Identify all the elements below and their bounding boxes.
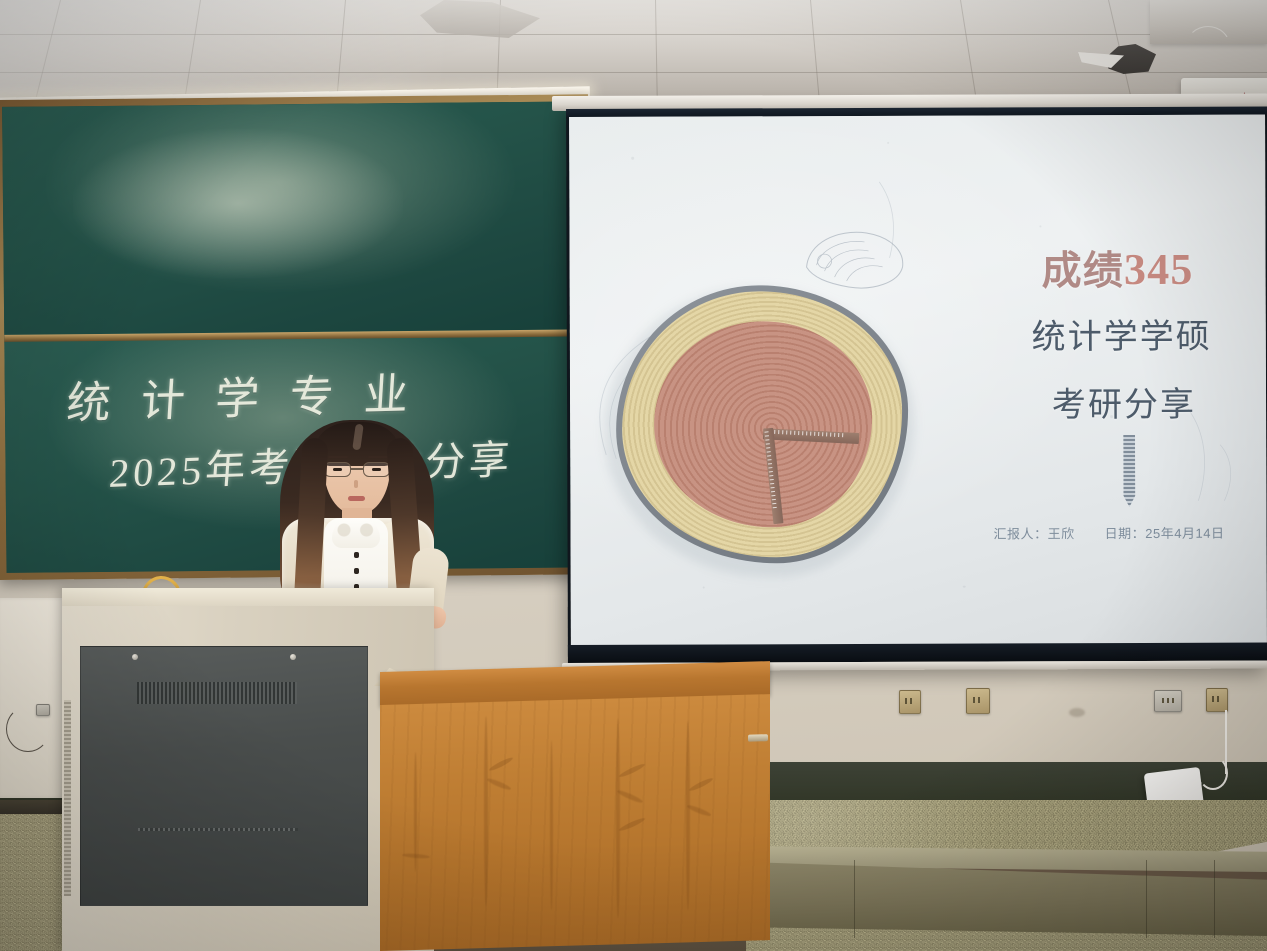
nose xyxy=(354,480,358,488)
wall-smudge xyxy=(1069,708,1085,717)
wall-outlet-4[interactable] xyxy=(1206,688,1228,712)
slide-score-heading: 成绩345 xyxy=(1041,238,1193,297)
pencil-graphic-icon xyxy=(1123,435,1135,507)
wall-left-panel xyxy=(0,598,64,798)
tree-ring-illustration xyxy=(610,281,921,572)
chalkboard-panel-upper xyxy=(2,101,582,335)
line-sketch-icon xyxy=(869,176,939,266)
classroom-presentation-photo: ▲ 统 计 学 专 业 2025年考研经验分享 xyxy=(0,0,1267,951)
power-cable-curve xyxy=(1198,756,1228,790)
stage-platform xyxy=(746,800,1267,951)
mouth xyxy=(348,496,365,501)
desk-front-panel xyxy=(380,694,770,951)
stage-riser-face xyxy=(746,862,1267,936)
slide-footer-meta: 汇报人：王欣 日期：25年4月14日 xyxy=(993,523,1224,543)
score-label: 成绩 xyxy=(1041,248,1124,293)
lectern-lower-slot xyxy=(138,828,298,831)
presentation-date: 日期：25年4月14日 xyxy=(1105,523,1225,542)
score-value: 345 xyxy=(1124,245,1194,294)
blouse-ruffle xyxy=(332,518,380,548)
dark-cable-left xyxy=(6,706,50,752)
presenter-name: 汇报人：王欣 xyxy=(993,523,1074,542)
slide-subtitle-1: 统计学学硕 xyxy=(1032,309,1212,359)
lectern-top-surface xyxy=(62,588,434,606)
lectern-edge-vent xyxy=(64,700,71,896)
multimedia-lectern xyxy=(62,588,434,951)
slide-subtitle-2: 考研分享 xyxy=(1052,377,1196,427)
ruler-horizontal-icon xyxy=(763,428,859,444)
projection-screen: 成绩345 统计学学硕 考研分享 汇报人：王欣 日期：25年4月14日 xyxy=(566,102,1267,671)
baseboard-left xyxy=(0,800,66,814)
wall-outlet-2[interactable] xyxy=(966,688,990,714)
screen-surface: 成绩345 统计学学硕 考研分享 汇报人：王欣 日期：25年4月14日 xyxy=(566,115,1267,657)
presentation-slide: 成绩345 统计学学硕 考研分享 汇报人：王欣 日期：25年4月14日 xyxy=(569,115,1267,657)
desk-drawer-handle[interactable] xyxy=(748,734,768,742)
ruler-vertical-icon xyxy=(763,428,783,525)
glasses-bridge xyxy=(351,468,363,470)
wall-outlet-1[interactable] xyxy=(899,690,921,714)
teacher-desk xyxy=(380,661,770,951)
lectern-vent-grille xyxy=(137,682,297,704)
wall-outlet-3[interactable] xyxy=(1154,690,1182,712)
